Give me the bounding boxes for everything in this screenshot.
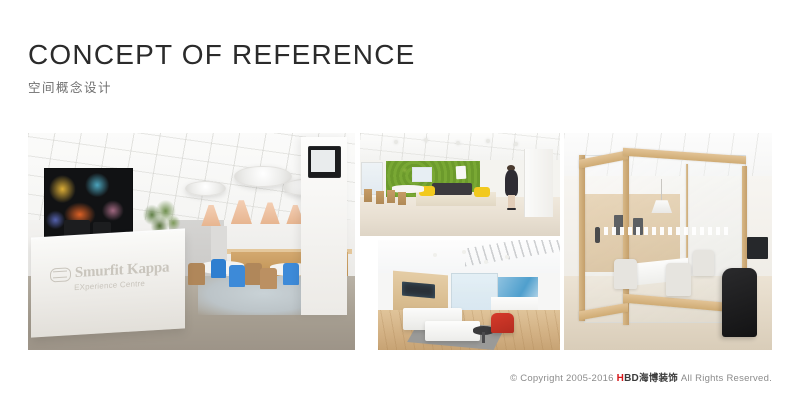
page-subtitle: 空间概念设计 xyxy=(28,77,628,96)
blue-chair xyxy=(229,265,245,287)
pendant-cord xyxy=(661,179,662,203)
monitor xyxy=(747,237,768,259)
wood-chair xyxy=(260,268,276,290)
wood-stool xyxy=(376,191,384,204)
task-chair xyxy=(614,259,637,289)
page-title: CONCEPT OF REFERENCE xyxy=(28,40,628,69)
wall-tv xyxy=(402,281,435,298)
person-shoes xyxy=(507,208,516,211)
brand-letter-h: H xyxy=(617,373,624,384)
task-chair xyxy=(666,263,691,296)
brand-letters-bd: BD xyxy=(624,373,639,384)
photo-reception[interactable]: Smurfit Kappa EXperience Centre xyxy=(28,133,355,350)
reception-scene: Smurfit Kappa EXperience Centre xyxy=(28,133,355,350)
wall-display-screen xyxy=(311,150,335,172)
red-accent-chair xyxy=(491,313,515,334)
image-gallery: Smurfit Kappa EXperience Centre xyxy=(28,133,772,350)
black-office-chair xyxy=(722,268,757,337)
wood-stool xyxy=(364,189,372,202)
photo-meetpod[interactable] xyxy=(564,133,772,350)
blue-chair xyxy=(283,263,299,285)
door-panel xyxy=(524,149,553,217)
wood-stool xyxy=(387,190,395,203)
dark-sofa xyxy=(432,183,472,194)
pendant-light xyxy=(185,181,226,196)
downlight xyxy=(462,250,466,254)
copyright-prefix: © Copyright 2005-2016 xyxy=(510,373,617,384)
yellow-armchair xyxy=(474,187,490,197)
task-chair xyxy=(693,250,714,276)
person-body xyxy=(505,170,518,195)
slide-header: CONCEPT OF REFERENCE 空间概念设计 xyxy=(28,40,628,96)
meetpod-scene xyxy=(564,133,772,350)
copyright-suffix: All Rights Reserved. xyxy=(678,373,772,384)
photo-lounge[interactable] xyxy=(378,240,560,350)
downlight xyxy=(484,260,488,264)
downlight xyxy=(433,253,437,257)
mosswall-scene xyxy=(360,133,560,236)
pod-corner-post xyxy=(579,155,585,321)
person-legs xyxy=(508,195,515,209)
coffee-table-stem xyxy=(482,332,485,343)
wood-stool xyxy=(398,192,406,205)
wall-board xyxy=(456,166,467,180)
wall-screen xyxy=(412,167,432,182)
blue-chair xyxy=(211,259,226,279)
lounge-scene xyxy=(378,240,560,350)
white-sofa xyxy=(425,321,480,341)
door-handle xyxy=(595,227,600,243)
wood-chair xyxy=(188,263,204,285)
pendant-light xyxy=(234,166,292,188)
glass-frit-band xyxy=(596,227,729,234)
person-standing xyxy=(504,165,519,210)
photo-mosswall[interactable] xyxy=(360,133,560,236)
footer-copyright: © Copyright 2005-2016 HBD海博装饰 All Rights… xyxy=(510,370,772,384)
round-table xyxy=(392,185,424,193)
brand-name-cn: 海博装饰 xyxy=(639,373,678,384)
reception-desk xyxy=(31,230,185,337)
